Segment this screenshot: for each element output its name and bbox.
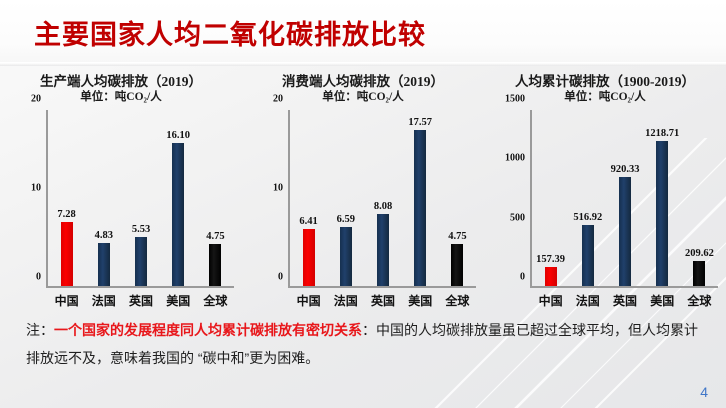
bar-uk[interactable] — [377, 214, 389, 286]
note-highlight: 一个国家的发展程度同人均累计碳排放有密切关系 — [54, 322, 362, 338]
bar-group: 157.39 516.92 920.33 1218.71 — [532, 110, 718, 286]
bar-item: 6.41 — [290, 110, 327, 286]
bar-item: 17.57 — [402, 110, 439, 286]
bar-item: 1218.71 — [644, 110, 681, 286]
x-label-france: 法国 — [327, 292, 364, 309]
x-label-china: 中国 — [290, 292, 327, 309]
x-axis-line — [46, 286, 234, 288]
bar-value-label: 6.41 — [299, 216, 317, 227]
bar-item: 516.92 — [569, 110, 606, 286]
bar-group: 6.41 6.59 8.08 17.57 — [290, 110, 476, 286]
x-label-global: 全球 — [681, 292, 718, 309]
bar-item: 7.28 — [48, 110, 85, 286]
bar-china[interactable] — [545, 267, 557, 286]
y-tick-label: 0 — [36, 272, 41, 283]
bar-value-label: 4.75 — [448, 231, 466, 242]
bar-china[interactable] — [61, 222, 73, 286]
x-axis-line — [530, 286, 718, 288]
chart-title: 人均累计碳排放（1900-2019） — [484, 70, 726, 90]
x-axis-labels: 中国 法国 英国 美国 全球 — [532, 292, 718, 309]
bar-value-label: 16.10 — [166, 130, 190, 141]
bar-value-label: 17.57 — [408, 117, 432, 128]
bar-global[interactable] — [451, 244, 463, 286]
charts-container: 生产端人均碳排放（2019） 单位：吨CO₂/人 0 10 20 7.28 4.… — [0, 66, 726, 316]
x-label-global: 全球 — [197, 292, 234, 309]
chart-production-per-capita: 生产端人均碳排放（2019） 单位：吨CO₂/人 0 10 20 7.28 4.… — [0, 66, 242, 316]
chart-cumulative-per-capita: 人均累计碳排放（1900-2019） 单位：吨CO₂/人 0 500 1000 … — [484, 66, 726, 316]
bar-item: 5.53 — [122, 110, 159, 286]
y-tick-label: 10 — [273, 183, 283, 194]
bar-item: 8.08 — [364, 110, 401, 286]
x-label-uk: 英国 — [122, 292, 159, 309]
bar-item: 920.33 — [606, 110, 643, 286]
y-tick-label: 20 — [31, 94, 41, 105]
x-label-uk: 英国 — [606, 292, 643, 309]
y-tick-label: 0 — [278, 272, 283, 283]
x-label-france: 法国 — [85, 292, 122, 309]
bar-global[interactable] — [209, 244, 221, 286]
y-tick-label: 500 — [510, 213, 525, 224]
bar-uk[interactable] — [619, 177, 631, 286]
bar-value-label: 1218.71 — [645, 128, 679, 139]
bar-china[interactable] — [303, 229, 315, 286]
bar-item: 4.83 — [85, 110, 122, 286]
bar-france[interactable] — [98, 243, 110, 286]
x-label-usa: 美国 — [402, 292, 439, 309]
bar-uk[interactable] — [135, 237, 147, 286]
x-label-china: 中国 — [532, 292, 569, 309]
x-label-uk: 英国 — [364, 292, 401, 309]
page-title: 主要国家人均二氧化碳排放比较 — [34, 13, 426, 52]
bar-value-label: 920.33 — [611, 164, 640, 175]
y-tick-label: 1000 — [505, 153, 525, 164]
note-text: 注：一个国家的发展程度同人均累计碳排放有密切关系：中国的人均碳排放量虽已超过全球… — [26, 316, 708, 372]
slide-root: 主要国家人均二氧化碳排放比较 生产端人均碳排放（2019） 单位：吨CO₂/人 … — [0, 0, 726, 408]
bar-item: 157.39 — [532, 110, 569, 286]
plot-area: 0 10 20 6.41 6.59 8.08 — [288, 110, 476, 288]
note-prefix: 注： — [26, 322, 54, 338]
bar-france[interactable] — [582, 225, 594, 286]
bar-value-label: 157.39 — [536, 254, 565, 265]
bar-value-label: 4.75 — [206, 231, 224, 242]
bar-value-label: 209.62 — [685, 248, 714, 259]
bar-france[interactable] — [340, 227, 352, 286]
bar-usa[interactable] — [656, 141, 668, 286]
y-tick-label: 20 — [273, 94, 283, 105]
bar-item: 209.62 — [681, 110, 718, 286]
x-label-usa: 美国 — [160, 292, 197, 309]
x-axis-line — [288, 286, 476, 288]
x-label-france: 法国 — [569, 292, 606, 309]
chart-title: 生产端人均碳排放（2019） — [0, 70, 242, 90]
bar-usa[interactable] — [414, 130, 426, 286]
bar-item: 16.10 — [160, 110, 197, 286]
y-tick-label: 0 — [520, 272, 525, 283]
bar-group: 7.28 4.83 5.53 16.10 — [48, 110, 234, 286]
x-label-global: 全球 — [439, 292, 476, 309]
bar-value-label: 8.08 — [374, 201, 392, 212]
bar-value-label: 6.59 — [337, 214, 355, 225]
x-label-china: 中国 — [48, 292, 85, 309]
bar-value-label: 5.53 — [132, 224, 150, 235]
page-number: 4 — [700, 384, 708, 400]
chart-consumption-per-capita: 消费端人均碳排放（2019） 单位：吨CO₂/人 0 10 20 6.41 6.… — [242, 66, 484, 316]
x-label-usa: 美国 — [644, 292, 681, 309]
plot-area: 0 500 1000 1500 157.39 516.92 920.33 — [530, 110, 718, 288]
bar-value-label: 4.83 — [95, 230, 113, 241]
y-tick-label: 10 — [31, 183, 41, 194]
bar-global[interactable] — [693, 261, 705, 286]
x-axis-labels: 中国 法国 英国 美国 全球 — [290, 292, 476, 309]
bar-usa[interactable] — [172, 143, 184, 286]
x-axis-labels: 中国 法国 英国 美国 全球 — [48, 292, 234, 309]
y-tick-label: 1500 — [505, 94, 525, 105]
plot-area: 0 10 20 7.28 4.83 5.53 — [46, 110, 234, 288]
bar-item: 6.59 — [327, 110, 364, 286]
bar-value-label: 7.28 — [57, 209, 75, 220]
bar-item: 4.75 — [439, 110, 476, 286]
chart-title: 消费端人均碳排放（2019） — [242, 70, 484, 90]
bar-item: 4.75 — [197, 110, 234, 286]
bar-value-label: 516.92 — [573, 212, 602, 223]
